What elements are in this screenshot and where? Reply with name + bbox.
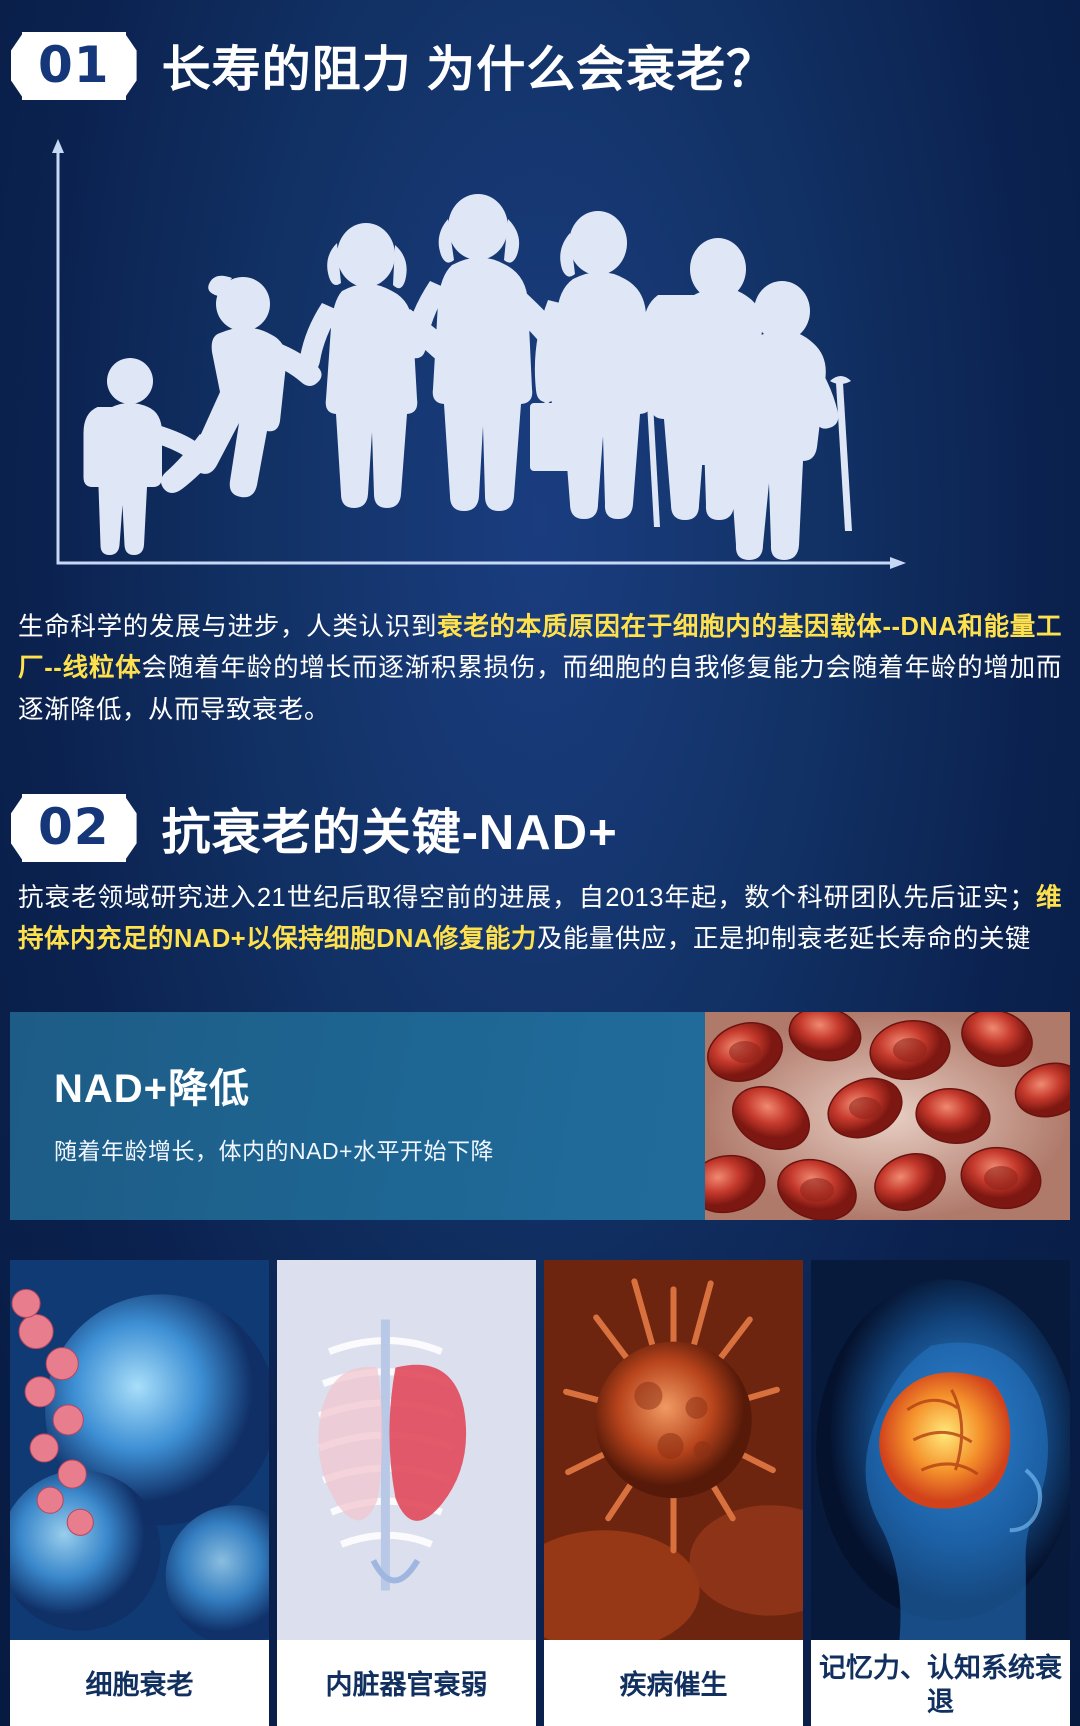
para01-part1: 生命科学的发展与进步，人类认识到 xyxy=(18,613,437,641)
section-02-paragraph: 抗衰老领域研究进入21世纪后取得空前的进展，自2013年起，数个科研团队先后证实… xyxy=(0,878,1080,961)
nad-banner-title: NAD+降低 xyxy=(54,1056,705,1114)
card-label-cell-aging: 细胞衰老 xyxy=(10,1640,269,1726)
para02-part1: 抗衰老领域研究进入21世纪后取得空前的进展，自2013年起，数个科研团队先后证实… xyxy=(18,884,1035,912)
section-01-header: 01 长寿的阻力 为什么会衰老？ xyxy=(0,0,1080,101)
card-brain-cognition: 记忆力、认知系统衰退 xyxy=(811,1260,1070,1726)
cell-aging-photo xyxy=(10,1260,269,1640)
silhouette-middle-aged xyxy=(530,211,651,519)
section-01-badge: 01 xyxy=(22,32,126,100)
section-02-badge: 02 xyxy=(22,794,126,862)
disease-photo xyxy=(544,1260,803,1640)
para02-part2: 及能量供应，正是抑制衰老延长寿命的关键 xyxy=(537,925,1031,953)
red-blood-cells-photo xyxy=(705,1012,1070,1220)
section-01-paragraph: 生命科学的发展与进步，人类认识到衰老的本质原因在于细胞内的基因载体--DNA和能… xyxy=(0,607,1080,731)
consequence-card-row: 细胞衰老 内脏器官衰弱 xyxy=(10,1260,1070,1726)
card-organ-decline: 内脏器官衰弱 xyxy=(277,1260,536,1726)
nad-banner-subtitle: 随着年龄增长，体内的NAD+水平开始下降 xyxy=(54,1132,705,1166)
card-cell-aging: 细胞衰老 xyxy=(10,1260,269,1726)
organ-decline-photo xyxy=(277,1260,536,1640)
card-label-disease: 疾病催生 xyxy=(544,1640,803,1726)
aging-silhouettes-chart xyxy=(0,133,1080,593)
card-label-organ-decline: 内脏器官衰弱 xyxy=(277,1640,536,1726)
card-disease: 疾病催生 xyxy=(544,1260,803,1726)
para01-part2: 会随着年龄的增长而逐渐积累损伤，而细胞的自我修复能力会随着年龄的增加而逐渐降低，… xyxy=(18,654,1062,723)
brain-cognition-photo xyxy=(811,1260,1070,1640)
nad-banner-text: NAD+降低 随着年龄增长，体内的NAD+水平开始下降 xyxy=(10,1012,705,1220)
card-label-brain-cognition: 记忆力、认知系统衰退 xyxy=(811,1640,1070,1726)
section-02-title: 抗衰老的关键-NAD+ xyxy=(162,793,618,864)
silhouette-teen xyxy=(161,276,322,498)
silhouette-group xyxy=(84,194,853,560)
silhouette-young-woman xyxy=(300,223,454,508)
nad-decline-banner: NAD+降低 随着年龄增长，体内的NAD+水平开始下降 xyxy=(10,1012,1070,1220)
section-02-header: 02 抗衰老的关键-NAD+ xyxy=(0,793,1080,864)
section-01-title: 长寿的阻力 为什么会衰老？ xyxy=(162,30,777,101)
